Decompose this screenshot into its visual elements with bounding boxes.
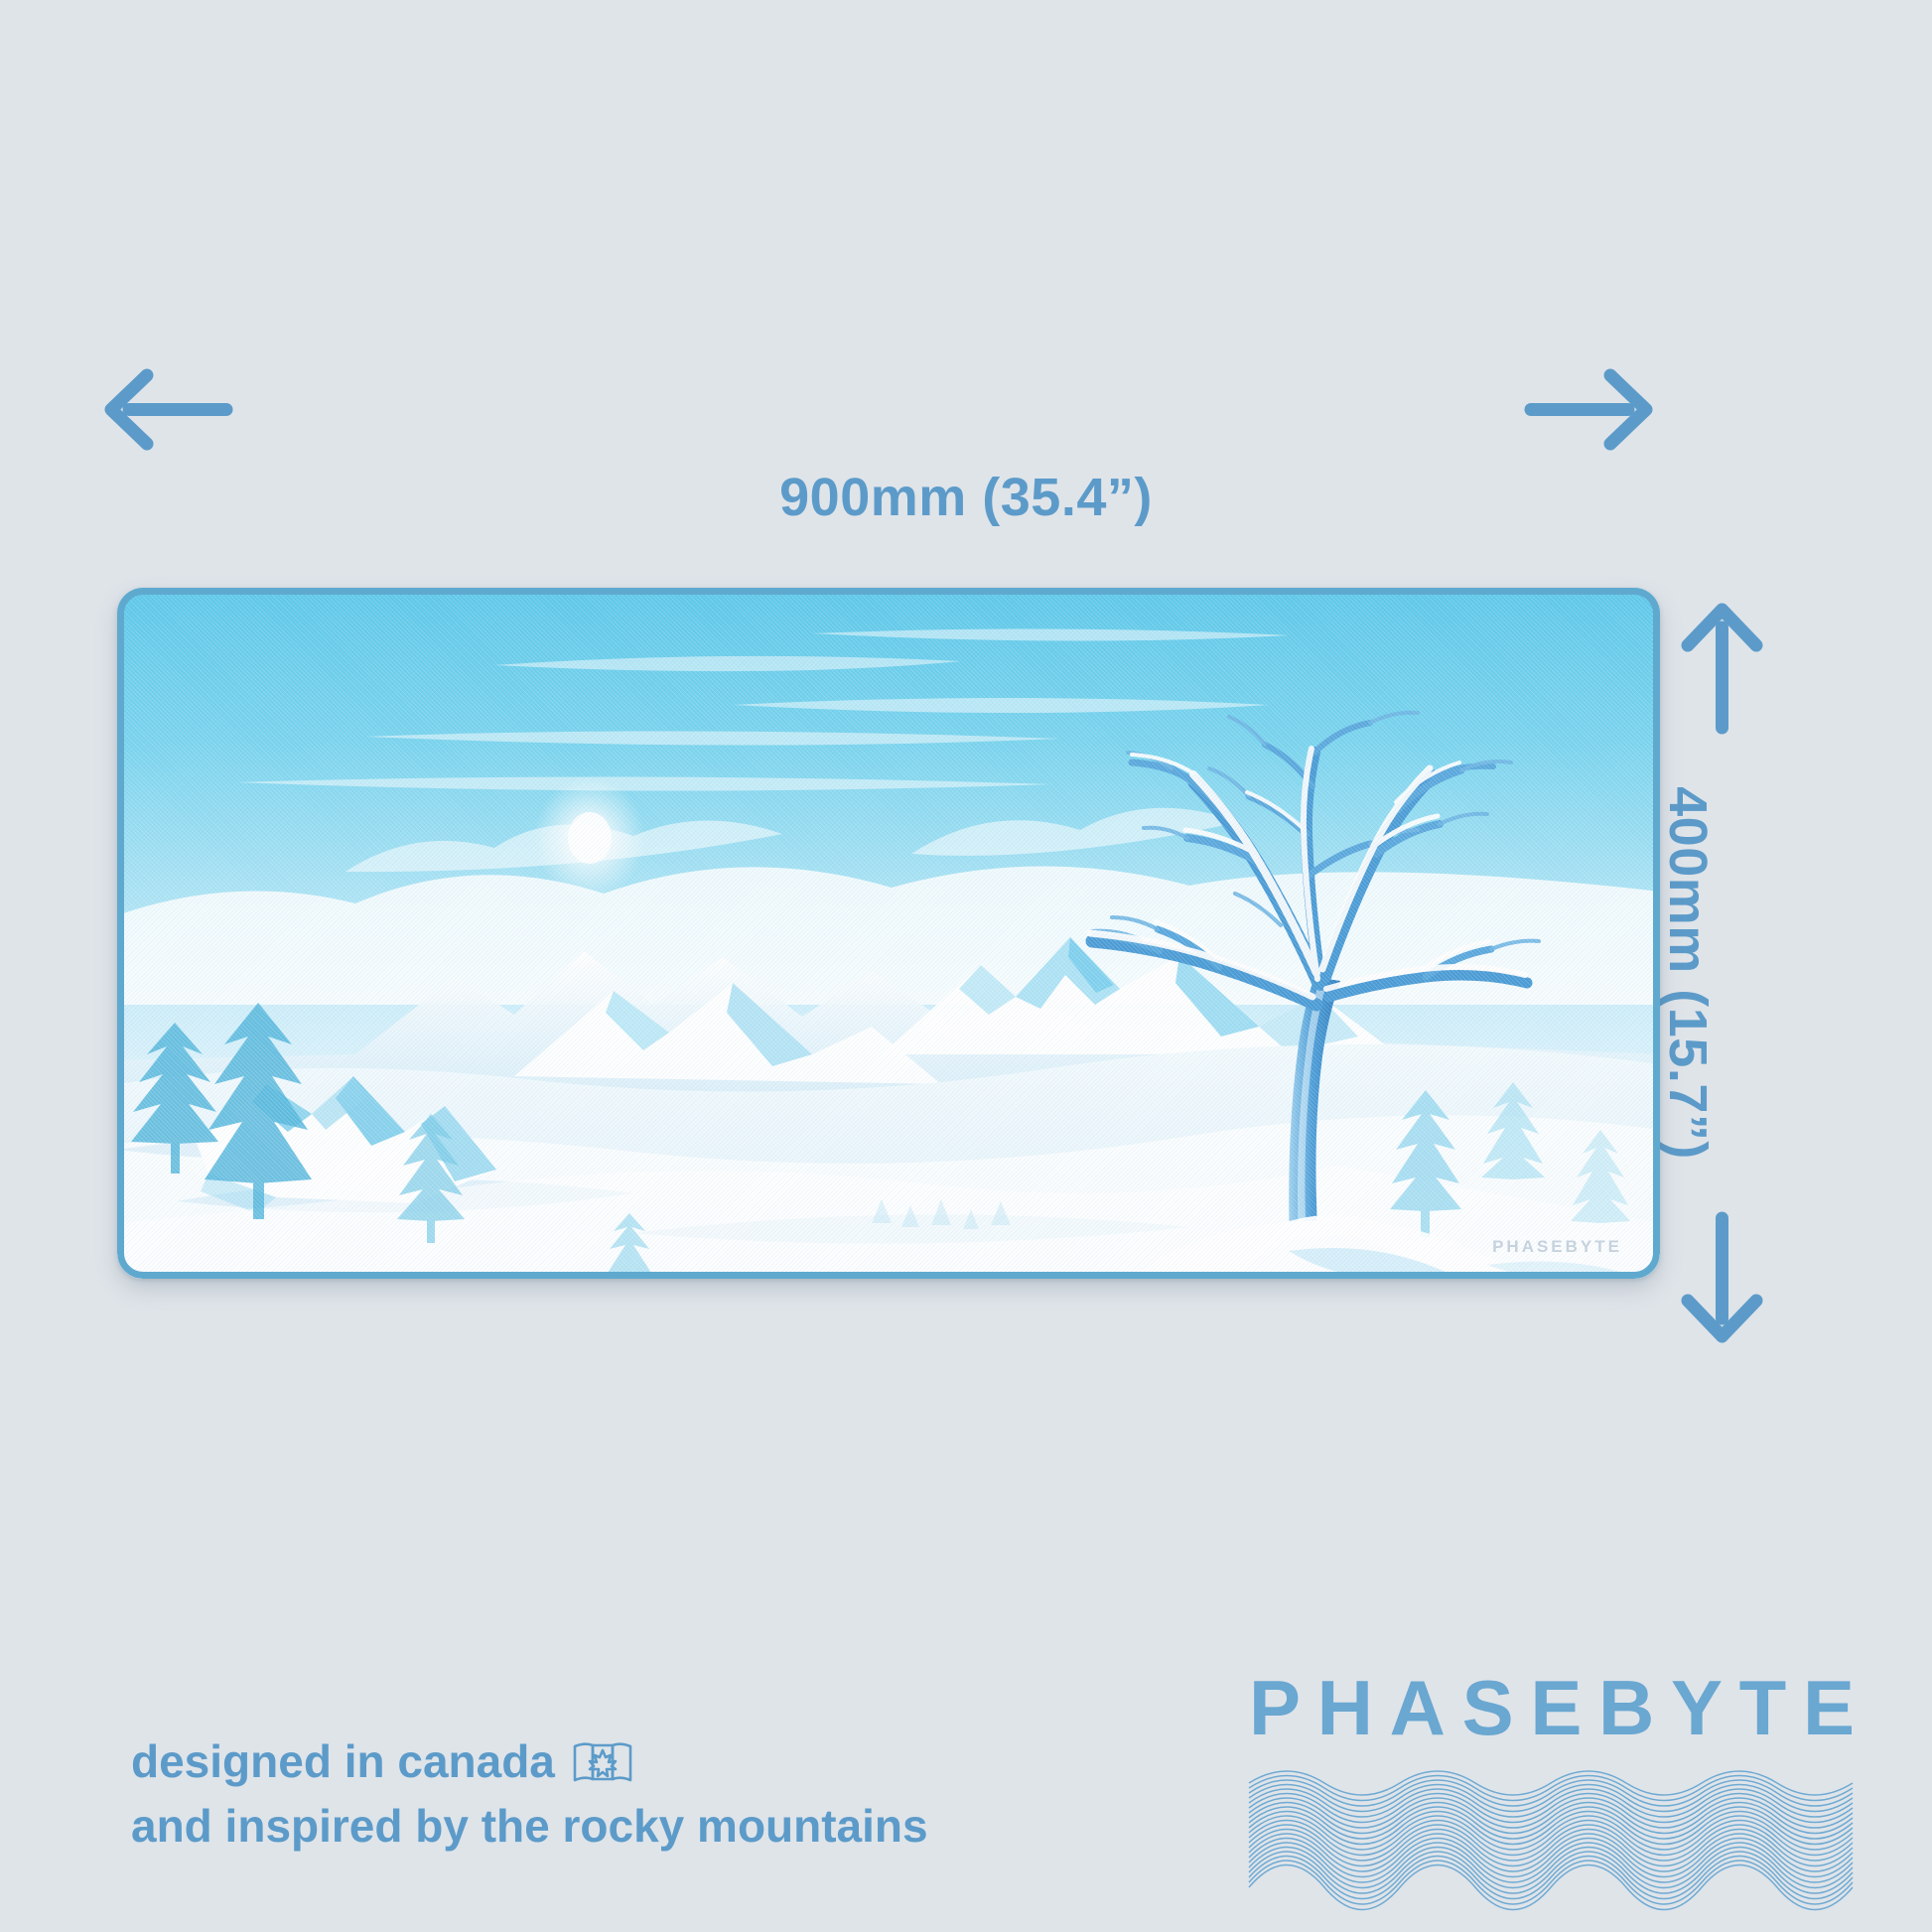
arrow-down-icon (1680, 1216, 1764, 1350)
arrow-right-icon (1529, 367, 1658, 452)
brand-letter-e: E (1530, 1663, 1582, 1753)
desk-mat-artwork (117, 588, 1660, 1279)
width-dimension-label: 900mm (35.4”) (0, 467, 1932, 528)
brand-letter-y: Y (1671, 1663, 1723, 1753)
brand-letter-h: H (1317, 1663, 1373, 1753)
brand-logo: P H A S E B Y T E (1249, 1656, 1855, 1904)
wave-lines-icon (1249, 1771, 1853, 1910)
brand-letter-p: P (1249, 1663, 1301, 1753)
height-dimension-label: 400mm (15.7”) (1657, 786, 1719, 1160)
arrow-up-icon (1680, 596, 1764, 730)
brand-letter-e2: E (1803, 1663, 1855, 1753)
brand-letter-s: S (1462, 1663, 1514, 1753)
brand-letter-a: A (1390, 1663, 1446, 1753)
product-spec-sheet: 900mm (35.4”) 400mm (15.7”) (0, 0, 1932, 1932)
arrow-left-icon (99, 367, 228, 452)
footer-line-2-label: and inspired by the rocky mountains (131, 1794, 928, 1859)
brand-letter-b: B (1598, 1663, 1654, 1753)
desk-mat-product-image: PHASEBYTE (117, 588, 1660, 1279)
footer-tagline: designed in canada and inspired by the r… (131, 1729, 928, 1860)
canada-flag-icon (571, 1738, 634, 1786)
brand-letter-t: T (1739, 1663, 1787, 1753)
footer-line-1-label: designed in canada (131, 1729, 555, 1794)
